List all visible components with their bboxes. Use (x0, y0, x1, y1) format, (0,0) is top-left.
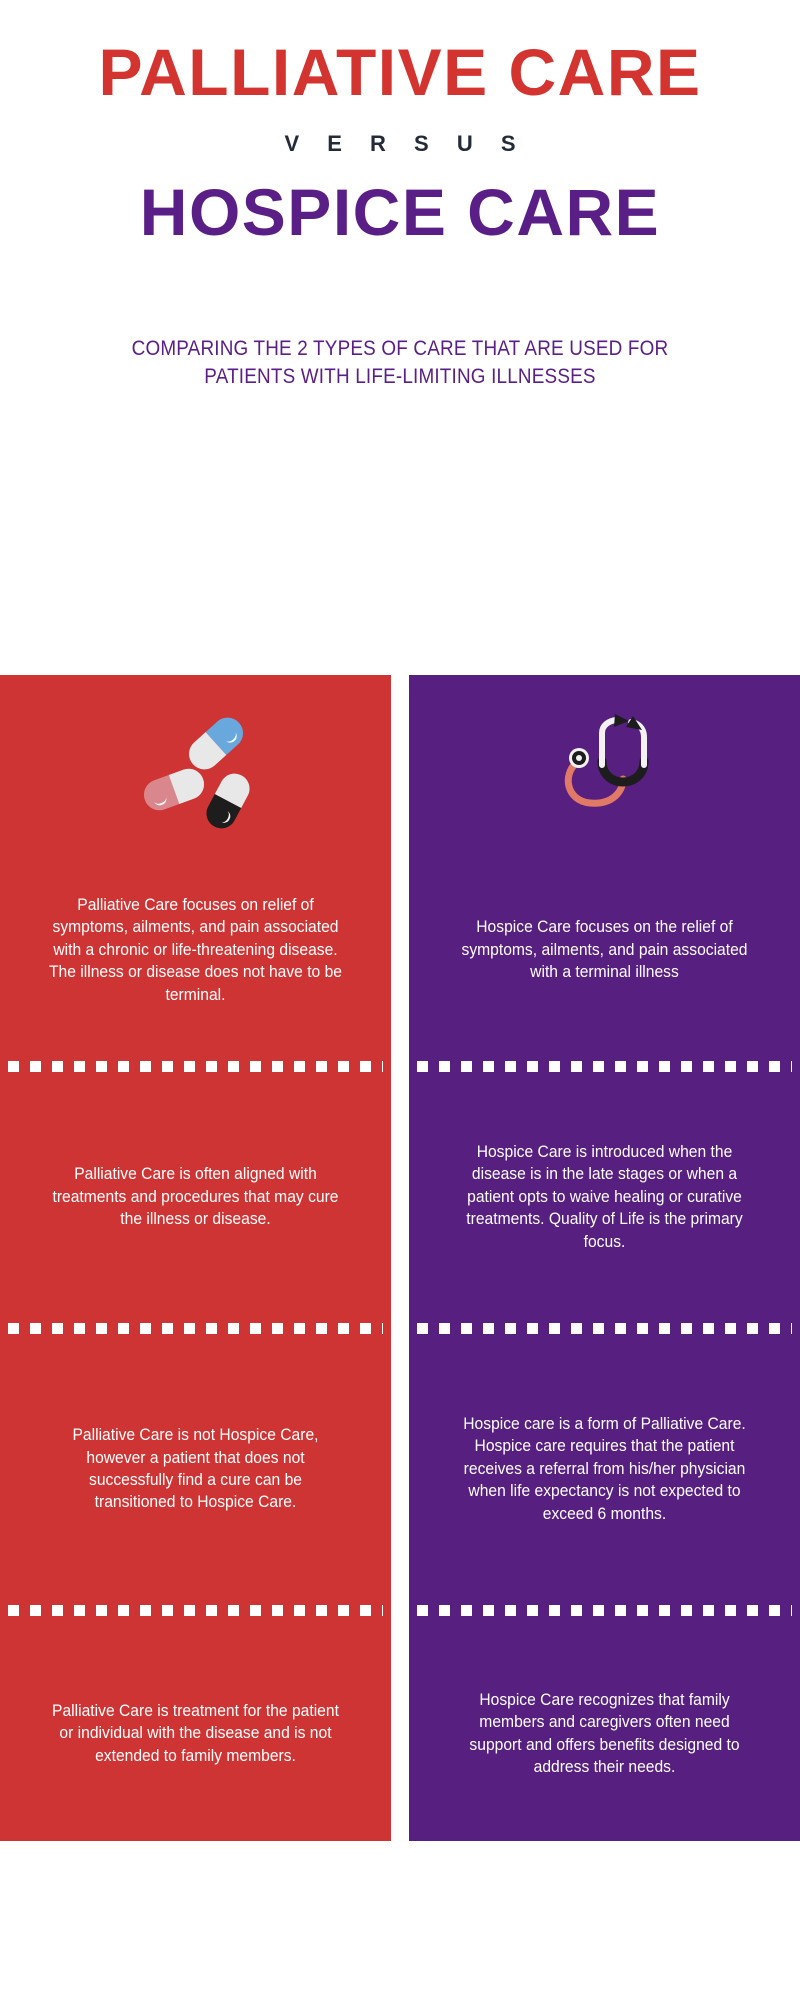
hospice-row-1: Hospice Care focuses on the relief of sy… (409, 850, 800, 1050)
divider-dashed-purple-2 (409, 1312, 800, 1344)
palliative-row-4: Palliative Care is treatment for the pat… (0, 1626, 391, 1841)
pills-icon-container (0, 675, 391, 850)
page-subtitle: COMPARING THE 2 TYPES OF CARE THAT ARE U… (40, 245, 760, 392)
divider-dashed-red-3 (0, 1594, 391, 1626)
hospice-row-1-text: Hospice Care focuses on the relief of sy… (456, 916, 753, 983)
divider-dashed-red-2 (0, 1312, 391, 1344)
hospice-row-3-text: Hospice care is a form of Palliative Car… (456, 1413, 753, 1525)
pill-black-capsule (201, 768, 255, 833)
palliative-row-2: Palliative Care is often aligned with tr… (0, 1082, 391, 1312)
hospice-row-3: Hospice care is a form of Palliative Car… (409, 1344, 800, 1594)
column-palliative-care: Palliative Care focuses on relief of sym… (0, 675, 391, 1841)
hospice-row-4: Hospice Care recognizes that family memb… (409, 1626, 800, 1841)
stethoscope-icon-container (409, 675, 800, 850)
page-title-hospice: HOSPICE CARE (0, 179, 800, 245)
infographic-header: PALLIATIVE CARE V E R S U S HOSPICE CARE… (0, 0, 800, 391)
hospice-row-4-text: Hospice Care recognizes that family memb… (456, 1689, 753, 1779)
palliative-row-3: Palliative Care is not Hospice Care, how… (0, 1344, 391, 1594)
versus-label: V E R S U S (0, 131, 800, 157)
divider-dashed-purple-1 (409, 1050, 800, 1082)
pill-pink-capsule (139, 764, 208, 814)
hospice-row-2-text: Hospice Care is introduced when the dise… (456, 1141, 753, 1253)
palliative-row-3-text: Palliative Care is not Hospice Care, how… (47, 1424, 344, 1514)
divider-dashed-red-1 (0, 1050, 391, 1082)
palliative-row-1: Palliative Care focuses on relief of sym… (0, 850, 391, 1050)
palliative-row-1-text: Palliative Care focuses on relief of sym… (47, 894, 344, 1006)
hospice-row-2: Hospice Care is introduced when the dise… (409, 1082, 800, 1312)
comparison-section: Palliative Care focuses on relief of sym… (0, 675, 800, 1841)
column-hospice-care: Hospice Care focuses on the relief of sy… (409, 675, 800, 1841)
pills-icon (141, 708, 251, 818)
palliative-row-4-text: Palliative Care is treatment for the pat… (47, 1700, 344, 1767)
page-title-palliative: PALLIATIVE CARE (0, 40, 800, 105)
divider-dashed-purple-3 (409, 1594, 800, 1626)
palliative-row-2-text: Palliative Care is often aligned with tr… (47, 1163, 344, 1230)
stethoscope-icon (545, 703, 665, 823)
